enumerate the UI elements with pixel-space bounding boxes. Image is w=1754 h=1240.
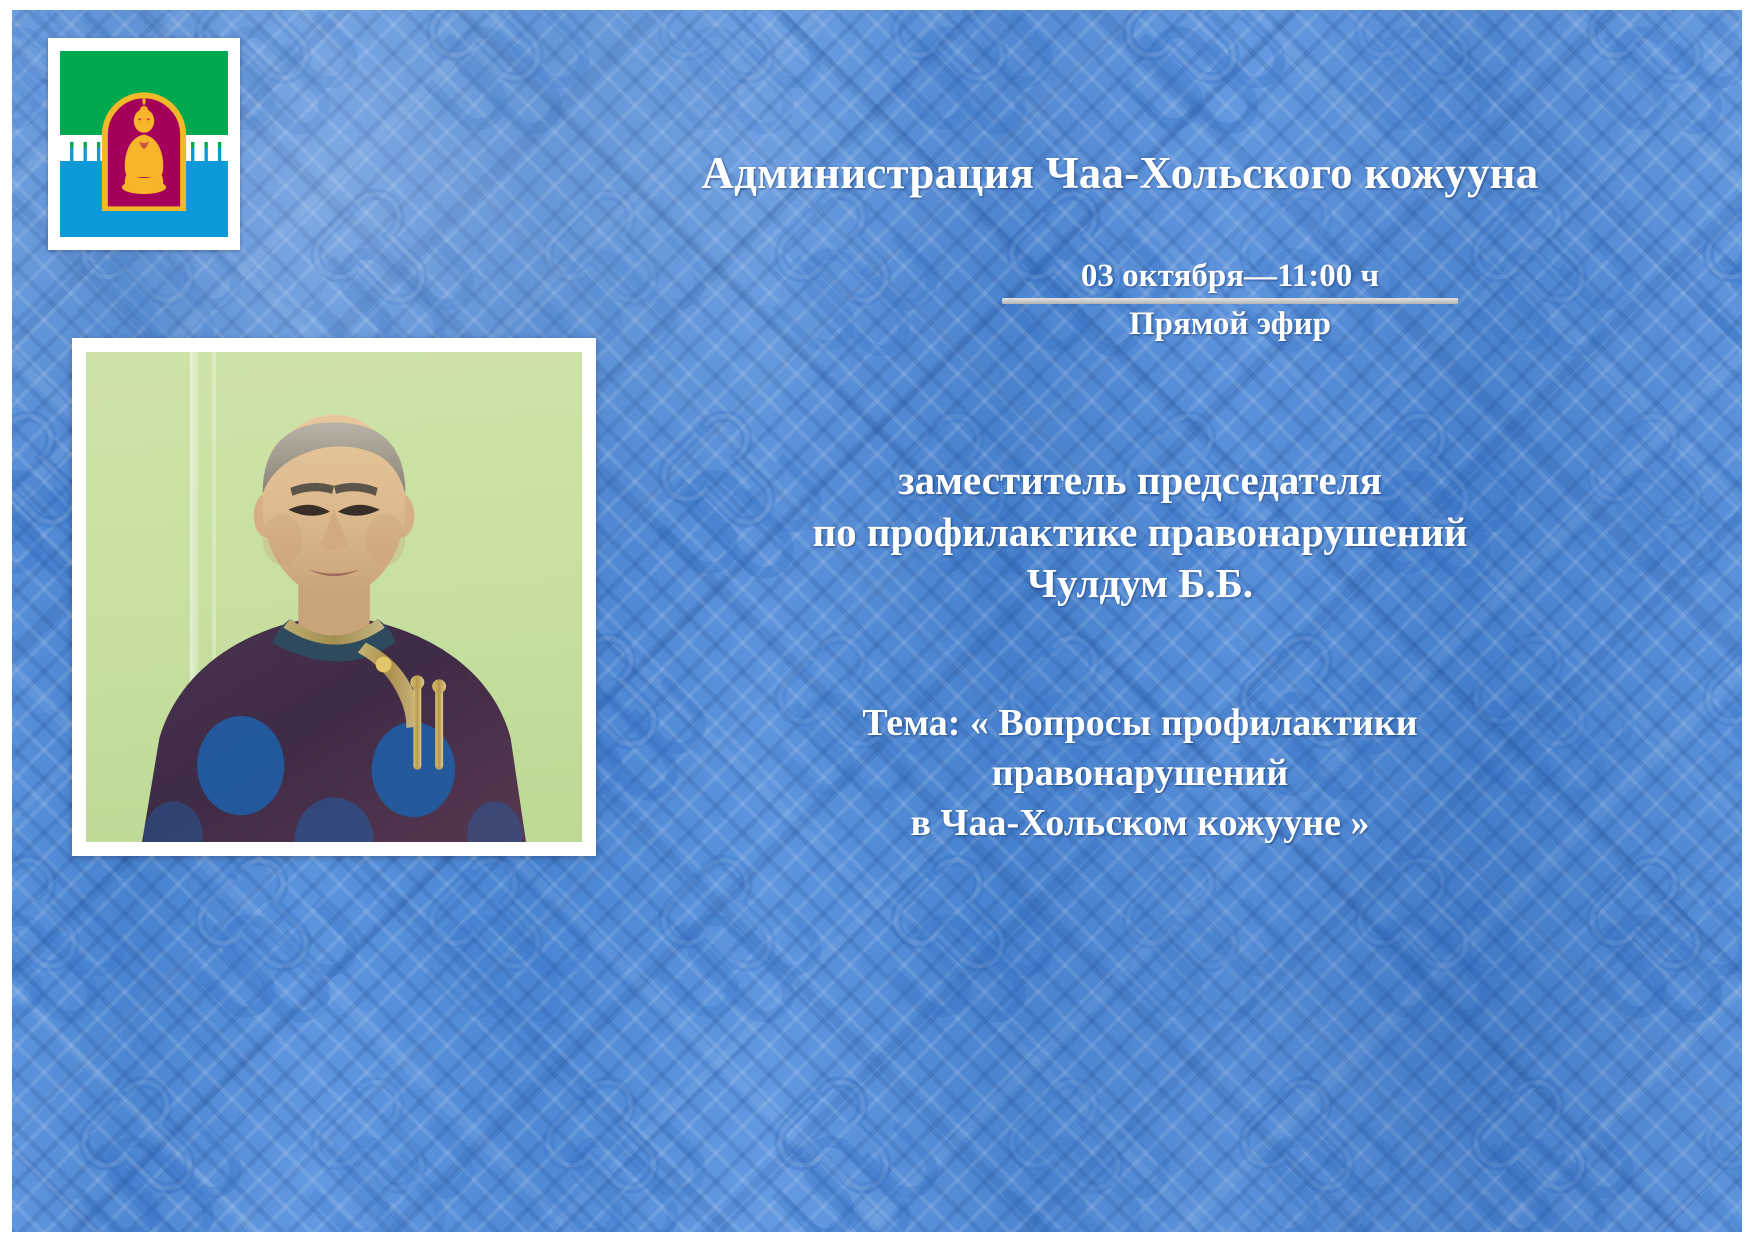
kozhuun-flag-emblem <box>48 38 240 250</box>
speaker-photo <box>86 352 582 842</box>
flag-graphic <box>60 51 228 237</box>
broadcast-label: Прямой эфир <box>980 306 1480 344</box>
topic-line-2: правонарушений <box>700 748 1580 798</box>
topic-line-3: в Чаа-Хольском кожууне » <box>700 798 1580 848</box>
buddha-arch <box>100 92 187 211</box>
topic-block: Тема: « Вопросы профилактики правонаруше… <box>700 698 1580 848</box>
speaker-name: Чулдум Б.Б. <box>640 558 1640 610</box>
speaker-photo-frame <box>72 338 596 856</box>
topic-line-1: Тема: « Вопросы профилактики <box>700 698 1580 748</box>
portrait-figure <box>86 352 582 842</box>
organization-title: Администрация Чаа-Хольского кожууна <box>560 148 1680 199</box>
schedule-divider <box>1002 298 1458 304</box>
speaker-role-line-2: по профилактике правонарушений <box>640 507 1640 559</box>
event-datetime: 03 октября—11:00 ч <box>980 258 1480 296</box>
speaker-role-line-1: заместитель председателя <box>640 455 1640 507</box>
schedule-block: 03 октября—11:00 ч Прямой эфир <box>980 258 1480 343</box>
speaker-block: заместитель председателя по профилактике… <box>640 455 1640 610</box>
poster-canvas: Администрация Чаа-Хольского кожууна 03 о… <box>0 0 1754 1240</box>
